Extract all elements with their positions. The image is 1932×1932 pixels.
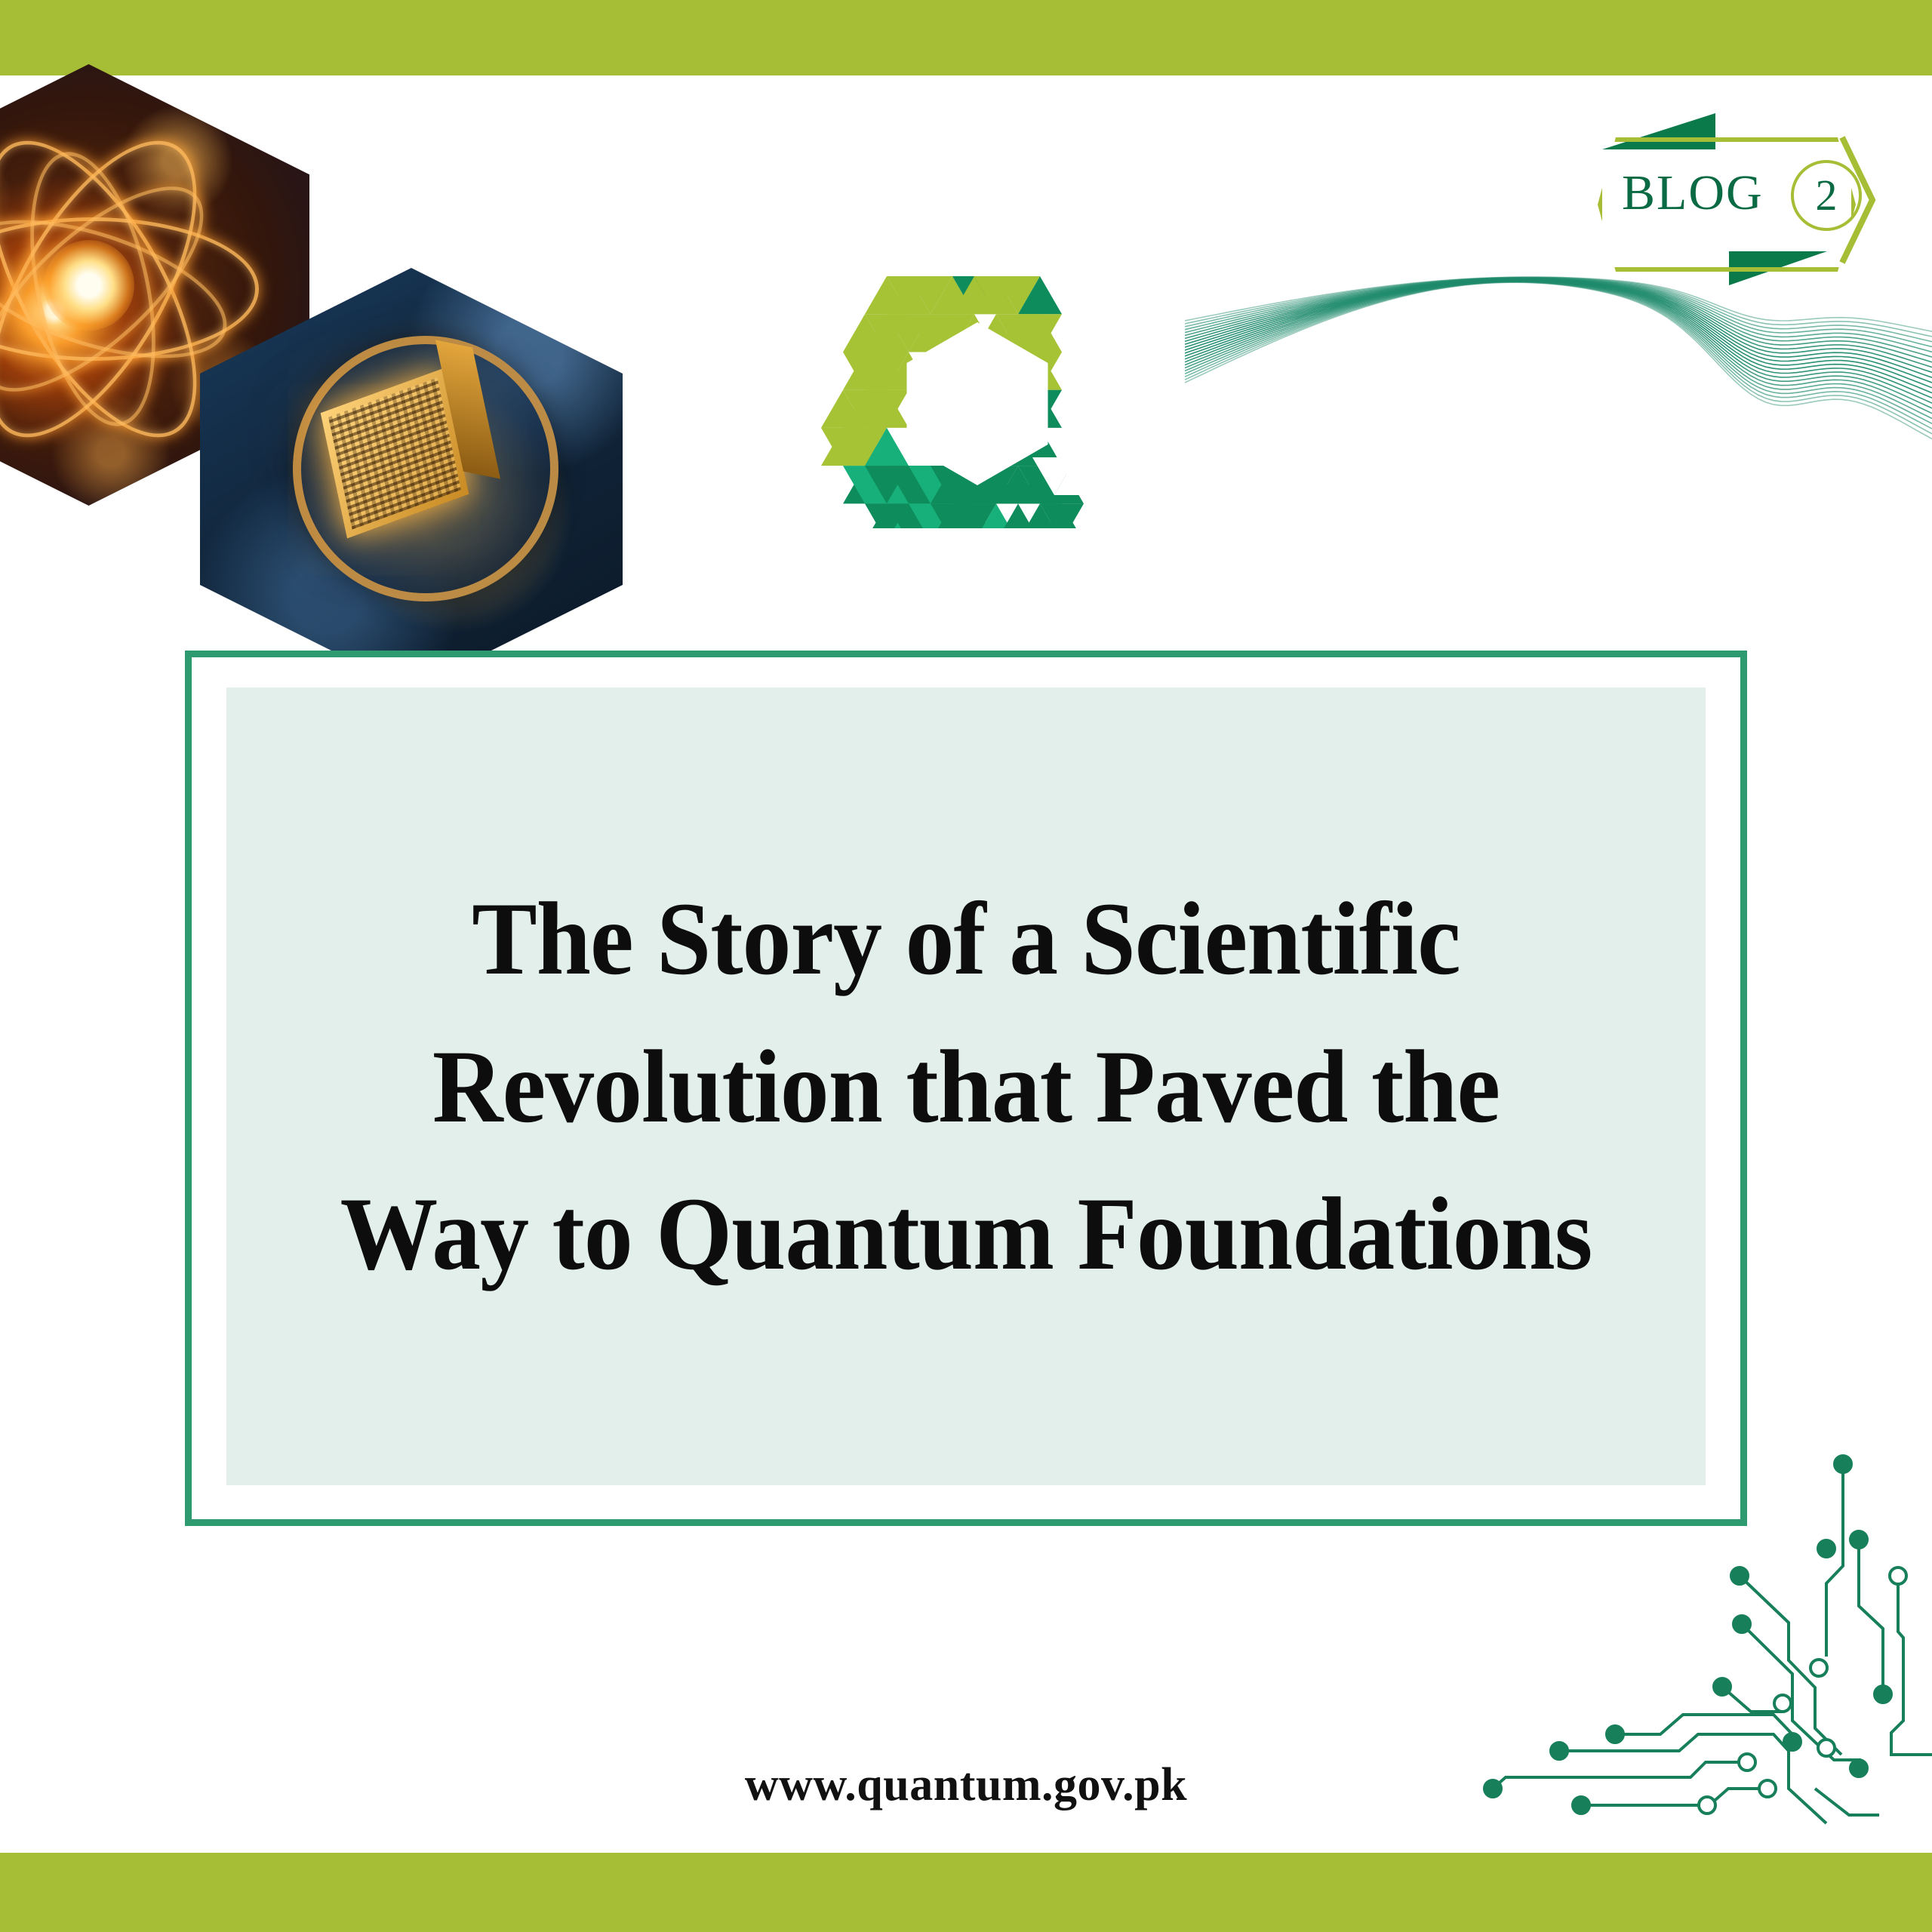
blog-badge[interactable]: BLOG 2 bbox=[1581, 113, 1868, 287]
top-brand-bar bbox=[0, 0, 1932, 75]
poster-canvas: BLOG 2 The Story of a Scientific Revolut… bbox=[0, 0, 1932, 1932]
page-title: The Story of a Scientific Revolution tha… bbox=[271, 865, 1661, 1309]
site-url[interactable]: www.quantum.gov.pk bbox=[0, 1758, 1932, 1812]
atom-nucleus bbox=[44, 240, 134, 331]
badge-number: 2 bbox=[1791, 160, 1862, 231]
bottom-brand-bar bbox=[0, 1853, 1932, 1932]
badge-label: BLOG bbox=[1622, 165, 1764, 222]
quantum-logo bbox=[815, 272, 1140, 528]
title-text-wrap: The Story of a Scientific Revolution tha… bbox=[226, 688, 1706, 1485]
